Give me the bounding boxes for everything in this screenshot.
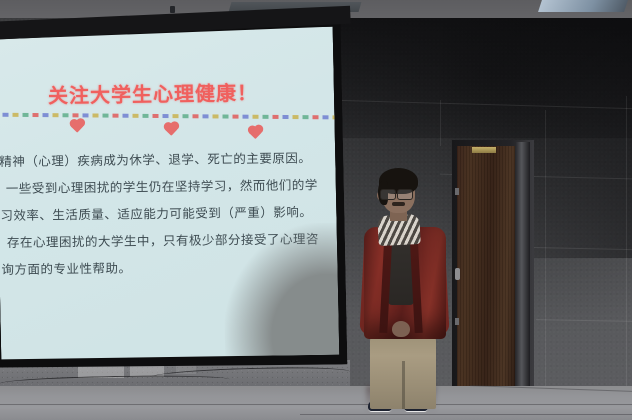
floor-tile-line <box>300 414 632 415</box>
door-wood-grain <box>457 146 515 388</box>
glasses-lens-right <box>397 189 413 200</box>
ceiling-sprinkler-icon <box>170 6 175 13</box>
wall-seam-vertical <box>626 96 627 386</box>
screen-shadow <box>223 223 340 364</box>
door-sign <box>472 147 496 153</box>
mustache <box>392 202 405 206</box>
slide-body-line: 精神（心理）疾病成为休学、退学、死亡的主要原因。 <box>0 144 335 175</box>
screen-surface: 关注大学生心理健康！ 精神（心理）疾病成为休学、退学、死亡的主要原因。 一些受到… <box>0 27 339 364</box>
wooden-door[interactable] <box>457 146 515 388</box>
door-reveal <box>516 142 530 390</box>
wall-seam-vertical <box>440 100 441 146</box>
glasses-lens-left <box>380 189 396 200</box>
floor-tile-line <box>0 404 632 405</box>
glasses-icon <box>380 189 416 198</box>
slide-body-line: 一些受到心理困扰的学生仍在坚持学习，然而他们的学 <box>0 171 336 202</box>
lecture-hall-scene: 关注大学生心理健康！ 精神（心理）疾病成为休学、退学、死亡的主要原因。 一些受到… <box>0 0 632 420</box>
heart-icon <box>71 120 84 133</box>
speaker <box>352 165 462 405</box>
projection-screen[interactable]: 关注大学生心理健康！ 精神（心理）疾病成为休学、退学、死亡的主要原因。 一些受到… <box>0 13 348 378</box>
slide-divider <box>0 113 339 120</box>
ceiling-light-fixture <box>538 0 628 12</box>
heart-icon <box>165 123 178 136</box>
trouser-seam <box>402 361 405 409</box>
heart-icon <box>249 126 262 139</box>
hands-clasped <box>392 321 410 337</box>
slide-title: 关注大学生心理健康！ <box>48 77 268 109</box>
wall-seam-vertical <box>545 110 546 386</box>
